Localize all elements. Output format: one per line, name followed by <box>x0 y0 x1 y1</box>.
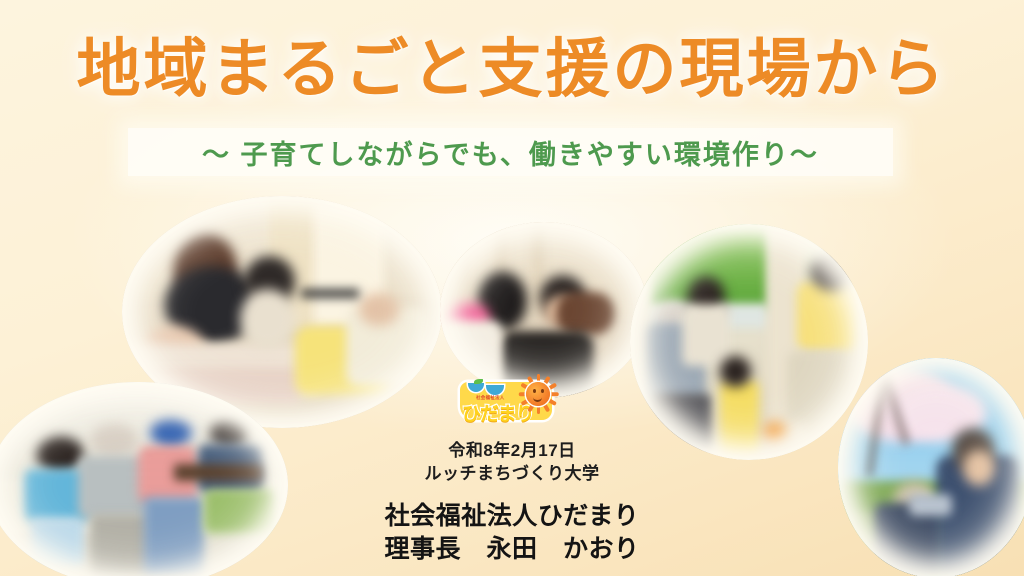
event-info: 令和8年2月17日 ルッチまちづくり大学 <box>0 440 1024 486</box>
photo-wheelchair-children <box>630 224 868 460</box>
photo-child-resident <box>440 222 648 398</box>
presenter-block: 社会福祉法人ひだまり 理事長 永田 かおり <box>0 500 1024 565</box>
subtitle-band: 〜 子育てしながらでも、働きやすい環境作り〜 <box>128 128 893 176</box>
subtitle-text: 〜 子育てしながらでも、働きやすい環境作り〜 <box>202 133 819 172</box>
event-date: 令和8年2月17日 <box>0 440 1024 463</box>
page-title: 地域まるごと支援の現場から <box>77 36 948 103</box>
title-container: 地域まるごと支援の現場から <box>0 36 1024 103</box>
event-venue: ルッチまちづくり大学 <box>0 463 1024 486</box>
photo-child-resident-art <box>440 222 648 398</box>
organization-logo: 社会福祉法人 ひだまり <box>456 374 572 424</box>
sun-icon <box>518 374 558 414</box>
presenter-organization: 社会福祉法人ひだまり <box>0 500 1024 533</box>
presentation-title-slide: 地域まるごと支援の現場から 〜 子育てしながらでも、働きやすい環境作り〜 <box>0 0 1024 576</box>
presenter-name: 理事長 永田 かおり <box>0 533 1024 566</box>
photo-wheelchair-children-art <box>630 224 868 460</box>
